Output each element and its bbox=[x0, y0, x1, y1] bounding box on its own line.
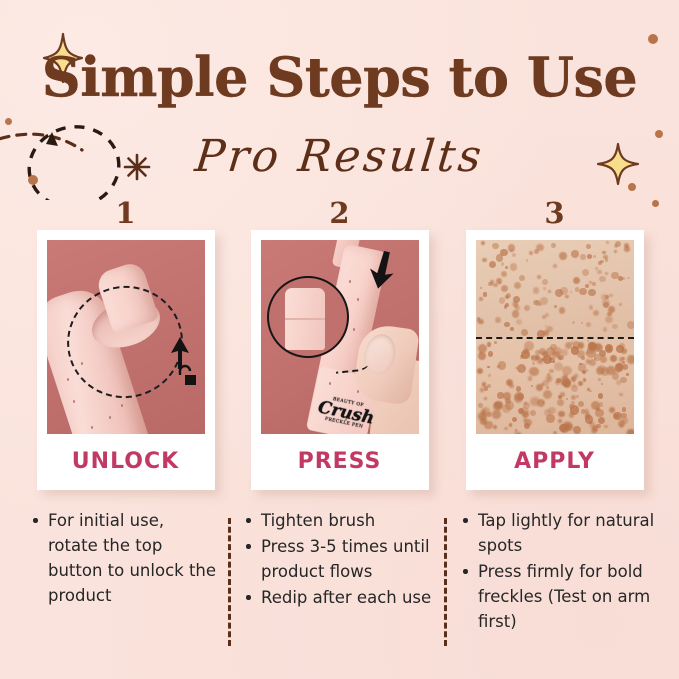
freckle-dot bbox=[603, 255, 607, 259]
freckle-dot bbox=[569, 404, 574, 409]
freckle-dot bbox=[528, 376, 533, 381]
freckle-dot bbox=[554, 362, 563, 371]
column-divider bbox=[228, 518, 231, 646]
freckle-dot bbox=[516, 386, 522, 392]
freckle-dot bbox=[584, 409, 589, 414]
freckle-dot bbox=[577, 350, 585, 358]
freckle-dot bbox=[565, 295, 568, 298]
freckle-dot bbox=[586, 244, 591, 249]
freckle-dot bbox=[611, 272, 619, 280]
freckle-dot bbox=[627, 355, 633, 363]
polaroid-card[interactable]: UNLOCK bbox=[37, 230, 215, 490]
freckle-dot bbox=[510, 263, 518, 271]
instructions-column-2: Tighten brush Press 3-5 times until prod… bbox=[245, 508, 435, 611]
step-photo-unlock bbox=[47, 240, 205, 434]
freckle-dot bbox=[618, 420, 625, 427]
list-item: Press firmly for bold freckles (Test on … bbox=[462, 559, 662, 634]
freckle-dot bbox=[547, 373, 550, 376]
freckle-dot bbox=[586, 322, 591, 327]
freckle-dot bbox=[626, 373, 629, 376]
freckle-dot bbox=[534, 249, 539, 254]
freckle-dot bbox=[551, 243, 556, 248]
freckle-dot bbox=[512, 253, 516, 257]
freckle-dot bbox=[524, 402, 526, 404]
freckle-dot bbox=[607, 346, 611, 350]
freckle-dot bbox=[546, 326, 552, 332]
freckle-dot bbox=[588, 289, 595, 296]
freckle-dot bbox=[493, 425, 497, 429]
freckle-dot bbox=[600, 260, 603, 263]
freckle-dot bbox=[497, 392, 503, 398]
freckle-dot bbox=[598, 393, 603, 398]
freckle-dot bbox=[505, 398, 511, 404]
freckle-dot bbox=[519, 275, 525, 281]
instructions-column-1: For initial use, rotate the top button t… bbox=[32, 508, 217, 609]
freckle-dot bbox=[514, 392, 524, 402]
freckle-dot bbox=[533, 300, 539, 306]
steps-row: 1 bbox=[0, 198, 679, 500]
freckle-dot bbox=[582, 269, 589, 276]
freckle-dot bbox=[573, 426, 581, 434]
freckle-dot bbox=[593, 310, 599, 316]
freckle-dot bbox=[488, 351, 493, 356]
page-title: Simple Steps to Use bbox=[0, 50, 679, 104]
unlock-icon bbox=[175, 364, 197, 388]
freckle-dot bbox=[553, 431, 558, 434]
freckle-dot bbox=[479, 297, 483, 301]
freckle-dot bbox=[541, 358, 544, 361]
freckle-dot bbox=[549, 369, 553, 373]
freckle-dot bbox=[487, 384, 491, 388]
freckle-dot bbox=[515, 367, 518, 370]
freckle-dot bbox=[595, 409, 604, 418]
list-item: Tap lightly for natural spots bbox=[462, 508, 662, 558]
bullet-list: Tap lightly for natural spots Press firm… bbox=[462, 508, 662, 634]
freckle-dot bbox=[493, 283, 497, 287]
freckle-dot bbox=[619, 303, 621, 305]
freckle-dot bbox=[585, 415, 594, 424]
freckle-dot bbox=[605, 295, 609, 299]
step-photo-press: BEAUTY OF Crush FRECKLE PEN bbox=[261, 240, 419, 434]
step-caption: UNLOCK bbox=[47, 434, 205, 490]
freckle-dot bbox=[530, 397, 540, 407]
freckle-dot bbox=[627, 429, 634, 434]
freckle-dot bbox=[599, 276, 605, 282]
freckle-dot bbox=[508, 382, 510, 384]
freckle-dot bbox=[488, 374, 491, 377]
freckle-dot bbox=[487, 342, 491, 346]
freckle-dot bbox=[532, 362, 535, 365]
freckle-dot bbox=[481, 407, 490, 416]
freckle-dot bbox=[627, 277, 629, 279]
freckle-dot bbox=[613, 412, 621, 420]
freckle-dot bbox=[605, 316, 613, 324]
freckle-dot bbox=[487, 366, 489, 368]
freckle-dot bbox=[586, 369, 588, 371]
freckle-dot bbox=[546, 386, 549, 389]
freckle-dot bbox=[563, 380, 571, 388]
decor-dot bbox=[628, 183, 636, 191]
freckle-dot bbox=[602, 251, 605, 254]
step-photo-apply bbox=[476, 240, 634, 434]
freckle-dot bbox=[622, 407, 626, 411]
freckle-dot bbox=[597, 270, 602, 275]
freckle-dot bbox=[536, 384, 543, 391]
list-item: Redip after each use bbox=[245, 585, 435, 610]
freckle-dot bbox=[557, 399, 564, 406]
freckle-dot bbox=[554, 305, 556, 307]
freckle-dot bbox=[530, 410, 536, 416]
freckle-dot bbox=[599, 402, 604, 407]
freckle-dot bbox=[604, 425, 607, 428]
freckle-dot bbox=[500, 249, 507, 256]
instructions-row: For initial use, rotate the top button t… bbox=[0, 508, 679, 673]
freckle-dot bbox=[558, 411, 564, 417]
freckle-dot bbox=[579, 288, 586, 295]
freckle-dot bbox=[605, 272, 608, 275]
freckle-dot bbox=[477, 317, 480, 320]
freckle-dot bbox=[512, 417, 517, 422]
freckle-dot bbox=[601, 367, 609, 375]
freckle-dot bbox=[588, 342, 595, 349]
freckle-dot bbox=[548, 407, 555, 414]
freckle-dot bbox=[514, 432, 522, 434]
freckle-dot bbox=[614, 244, 618, 248]
freckle-dot bbox=[589, 390, 592, 393]
freckle-dot bbox=[610, 355, 617, 362]
freckle-dot bbox=[580, 254, 586, 260]
freckle-dot bbox=[573, 341, 580, 348]
freckle-dot bbox=[537, 275, 540, 278]
instructions-column-3: Tap lightly for natural spots Press firm… bbox=[462, 508, 662, 635]
freckle-dot bbox=[529, 251, 532, 254]
freckle-dot bbox=[560, 287, 568, 295]
infographic-canvas: Simple Steps to Use Pro Results 1 bbox=[0, 0, 679, 679]
freckle-dot bbox=[619, 393, 623, 397]
freckle-dot bbox=[535, 350, 540, 355]
freckle-dot bbox=[492, 410, 501, 419]
freckle-dot bbox=[482, 258, 486, 262]
page-subtitle: Pro Results bbox=[0, 132, 679, 182]
freckle-dot bbox=[559, 252, 567, 260]
bullet-list: For initial use, rotate the top button t… bbox=[32, 508, 217, 608]
step-caption: APPLY bbox=[476, 434, 634, 490]
freckle-dot bbox=[497, 365, 500, 368]
bullet-list: Tighten brush Press 3-5 times until prod… bbox=[245, 508, 435, 610]
freckle-dot bbox=[484, 397, 487, 400]
freckle-dot bbox=[587, 254, 592, 259]
step-number: 1 bbox=[19, 198, 232, 230]
freckle-dot bbox=[571, 376, 576, 381]
freckle-dot bbox=[501, 262, 504, 265]
freckle-dot bbox=[495, 317, 501, 323]
step-card-1: 1 bbox=[19, 198, 232, 490]
comparison-divider bbox=[476, 337, 634, 339]
freckle-dot bbox=[614, 250, 617, 253]
freckle-dot bbox=[612, 324, 618, 330]
freckle-dot bbox=[566, 398, 568, 400]
freckle-dot bbox=[620, 377, 626, 383]
freckle-dot bbox=[483, 292, 488, 297]
zoom-inset-circle bbox=[267, 276, 349, 358]
decor-dot bbox=[648, 34, 658, 44]
freckle-dot bbox=[616, 363, 624, 371]
list-item: Tighten brush bbox=[245, 508, 435, 533]
freckle-dot bbox=[624, 246, 629, 251]
freckle-dot bbox=[523, 348, 529, 354]
freckle-dot bbox=[542, 279, 548, 285]
step-number: 3 bbox=[448, 198, 661, 230]
freckle-dot bbox=[571, 250, 579, 258]
step-card-3: 3 APPLY bbox=[448, 198, 661, 490]
freckle-dot bbox=[494, 341, 497, 344]
polaroid-card[interactable]: APPLY bbox=[466, 230, 644, 490]
freckle-dot bbox=[522, 411, 529, 418]
freckle-dot bbox=[478, 352, 486, 360]
freckle-dot bbox=[531, 385, 533, 387]
column-divider bbox=[444, 518, 447, 646]
press-down-arrow-icon bbox=[367, 250, 397, 290]
freckle-dot bbox=[543, 390, 552, 399]
freckle-dot bbox=[492, 243, 498, 249]
step-caption: PRESS bbox=[261, 434, 419, 490]
step-card-2: 2 BEAUTY OF bbox=[233, 198, 446, 490]
list-item: For initial use, rotate the top button t… bbox=[32, 508, 217, 608]
decor-dot bbox=[5, 118, 12, 125]
freckle-dot bbox=[592, 425, 598, 431]
freckle-dot bbox=[621, 413, 626, 418]
freckle-dot bbox=[556, 378, 561, 383]
freckle-dot bbox=[524, 305, 530, 311]
freckle-dot bbox=[598, 417, 605, 424]
polaroid-card[interactable]: BEAUTY OF Crush FRECKLE PEN PRES bbox=[251, 230, 429, 490]
step-number: 2 bbox=[233, 198, 446, 230]
freckle-dot bbox=[572, 321, 575, 324]
list-item: Press 3-5 times until product flows bbox=[245, 534, 435, 584]
freckle-dot bbox=[479, 320, 484, 325]
freckle-dot bbox=[516, 319, 522, 325]
freckle-dot bbox=[627, 321, 634, 329]
